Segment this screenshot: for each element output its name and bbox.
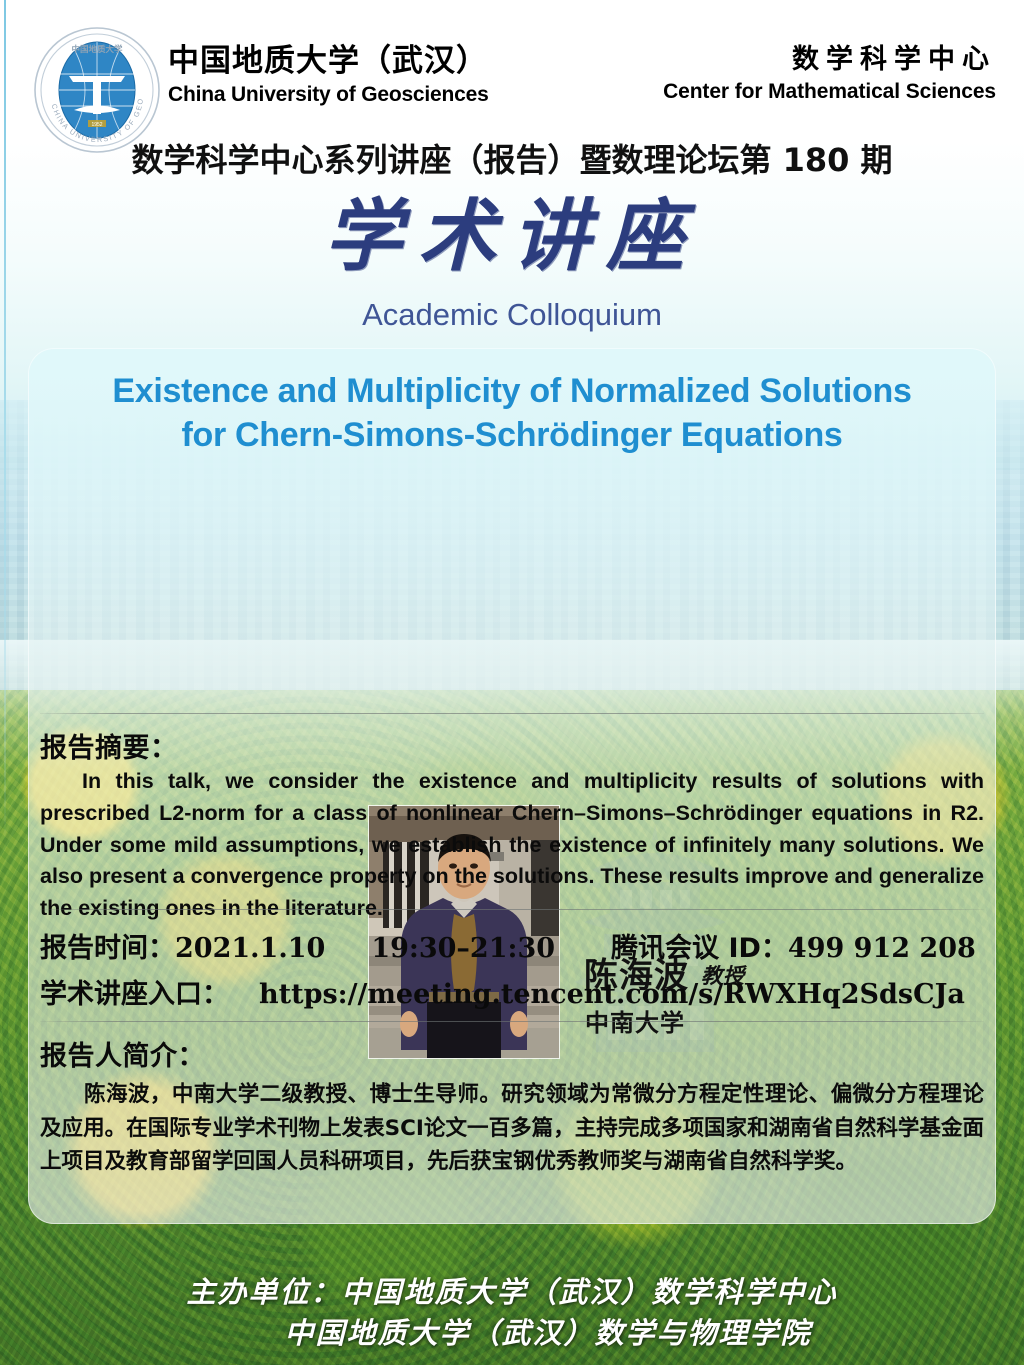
meeting-time-row: 报告时间：2021.1.1019:30–21:30腾讯会议 ID：499 912… (40, 926, 984, 965)
calligraphy-title: 学术讲座 (0, 196, 1024, 279)
organizer-line-1: 主办单位：中国地质大学（武汉）数学科学中心 (0, 1272, 1024, 1313)
abstract-body: In this talk, we consider the existence … (40, 766, 984, 925)
meeting-date: 2021.1.10 (175, 933, 325, 964)
svg-text:中国地质大学: 中国地质大学 (71, 44, 123, 55)
center-name-cn: 数学科学中心 (663, 44, 996, 76)
university-name-cn: 中国地质大学（武汉） (168, 44, 489, 80)
meeting-link-label: 学术讲座入口： (40, 979, 229, 1010)
divider-above-bio (40, 1021, 984, 1022)
talk-title-line1: Existence and Multiplicity of Normalized… (112, 372, 911, 410)
meeting-id-value: 499 912 208 (788, 933, 976, 964)
divider-above-meeting (40, 909, 984, 910)
svg-text:1952: 1952 (91, 122, 102, 128)
poster-root: 中国地质大学 CHINA UNIVERSITY OF GEOSCIENCES 1… (0, 0, 1024, 1365)
center-name-en: Center for Mathematical Sciences (663, 80, 996, 104)
university-identity: 中国地质大学（武汉） China University of Geoscienc… (168, 44, 489, 107)
meeting-link-url[interactable]: https://meeting.tencent.com/s/RWXHq2SdsC… (259, 979, 965, 1010)
abstract-heading: 报告摘要： (40, 726, 178, 765)
talk-title: Existence and Multiplicity of Normalized… (68, 370, 956, 457)
meeting-link-row[interactable]: 学术讲座入口：https://meeting.tencent.com/s/RWX… (40, 972, 984, 1011)
talk-title-line2: for Chern-Simons-Schrödinger Equations (181, 416, 842, 454)
meeting-time-label: 报告时间： (40, 933, 175, 964)
divider-above-abstract (40, 713, 984, 714)
center-identity: 数学科学中心 Center for Mathematical Sciences (663, 44, 996, 104)
organizer-footer: 主办单位：中国地质大学（武汉）数学科学中心 中国地质大学（武汉）数学与物理学院 (0, 1272, 1024, 1354)
university-name-en: China University of Geosciences (168, 83, 489, 107)
series-title: 数学科学中心系列讲座（报告）暨数理论坛第 180 期 (0, 135, 1024, 181)
bio-heading: 报告人简介： (40, 1034, 205, 1073)
organizer-line-2: 中国地质大学（武汉）数学与物理学院 (0, 1313, 1024, 1354)
meeting-time-range: 19:30–21:30 (371, 933, 555, 964)
content-card: Existence and Multiplicity of Normalized… (28, 348, 996, 1224)
meeting-id-label: 腾讯会议 ID： (611, 933, 788, 964)
colloquium-subtitle: Academic Colloquium (0, 297, 1024, 333)
bio-body: 陈海波，中南大学二级教授、博士生导师。研究领域为常微分方程定性理论、偏微分方程理… (40, 1078, 984, 1179)
